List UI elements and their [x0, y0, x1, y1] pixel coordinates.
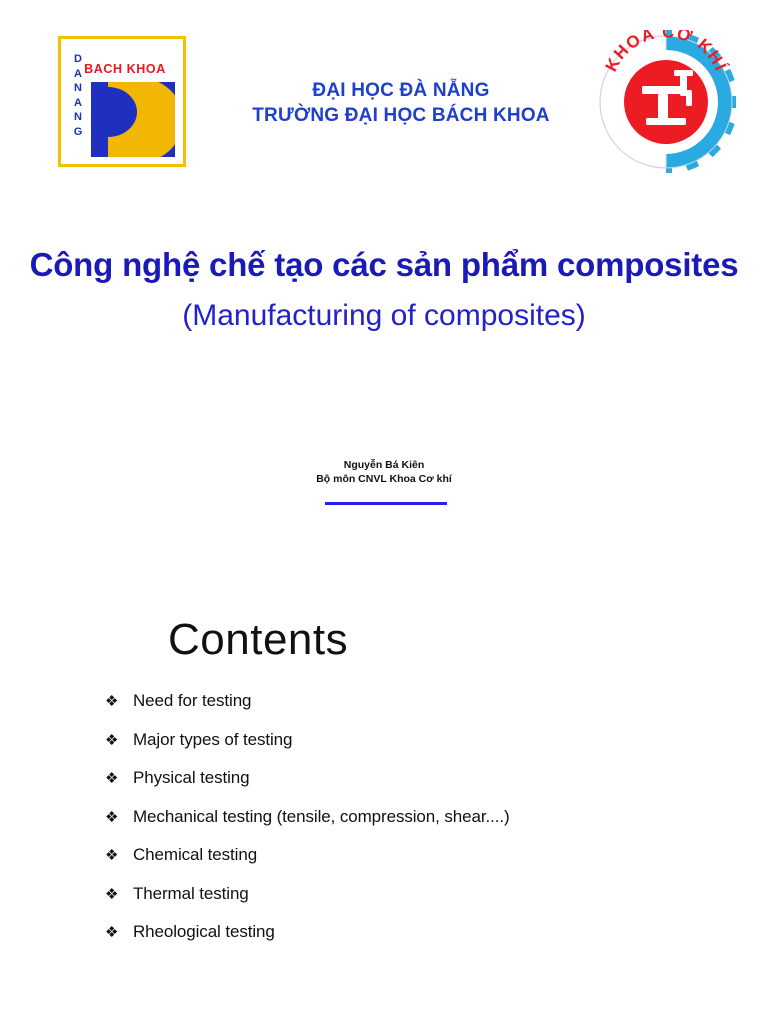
university-name-line2: TRƯỜNG ĐẠI HỌC BÁCH KHOA [214, 103, 588, 128]
logo-danang-vertical-text: D A N A N G [71, 52, 85, 139]
university-name-line1: ĐẠI HỌC ĐÀ NẴNG [312, 80, 489, 101]
logo-bach-khoa-text: BACH KHOA [69, 63, 181, 76]
logo-danang-letter: D [71, 52, 85, 67]
list-item-label: Major types of testing [133, 731, 292, 748]
logo-monogram-icon [91, 82, 175, 157]
diamond-bullet-icon: ❖ [105, 694, 133, 709]
logo-danang-letter: G [71, 125, 85, 140]
list-item-label: Chemical testing [133, 846, 257, 863]
khoa-co-khi-logo: KHOA CƠ KHÍ [596, 30, 736, 173]
author-divider [325, 502, 447, 505]
diamond-bullet-icon: ❖ [105, 848, 133, 863]
list-item: ❖ Mechanical testing (tensile, compressi… [105, 808, 705, 847]
list-item-label: Need for testing [133, 692, 251, 709]
slide-main-title: Công nghệ chế tạo các sản phẩm composite… [14, 244, 754, 286]
slide-header: BACH KHOA D A N A N G ĐẠI HỌC ĐÀ NẴNG [0, 0, 768, 200]
logo-danang-letter: A [71, 96, 85, 111]
slide-sub-title: (Manufacturing of composites) [14, 296, 754, 336]
logo-danang-letter: N [71, 110, 85, 125]
list-item: ❖ Need for testing [105, 692, 705, 731]
list-item: ❖ Thermal testing [105, 885, 705, 924]
contents-list: ❖ Need for testing ❖ Major types of test… [105, 692, 705, 962]
university-heading: ĐẠI HỌC ĐÀ NẴNG TRƯỜNG ĐẠI HỌC BÁCH KHOA [214, 78, 588, 128]
logo-monogram-stem [91, 82, 108, 157]
diamond-bullet-icon: ❖ [105, 887, 133, 902]
list-item-label: Mechanical testing (tensile, compression… [133, 808, 510, 825]
diamond-bullet-icon: ❖ [105, 771, 133, 786]
list-item: ❖ Physical testing [105, 769, 705, 808]
logo-left-inner: BACH KHOA D A N A N G [61, 39, 183, 164]
list-item: ❖ Chemical testing [105, 846, 705, 885]
author-department: Bộ môn CNVL Khoa Cơ khí [234, 472, 534, 486]
contents-heading: Contents [168, 612, 348, 668]
logo-danang-letter: A [71, 67, 85, 82]
presentation-slide: BACH KHOA D A N A N G ĐẠI HỌC ĐÀ NẴNG [0, 0, 768, 1024]
diamond-bullet-icon: ❖ [105, 925, 133, 940]
list-item-label: Rheological testing [133, 923, 275, 940]
author-name: Nguyễn Bá Kiên [234, 458, 534, 472]
diamond-bullet-icon: ❖ [105, 810, 133, 825]
dut-bach-khoa-danang-logo: BACH KHOA D A N A N G [58, 36, 186, 167]
list-item: ❖ Major types of testing [105, 731, 705, 770]
diamond-bullet-icon: ❖ [105, 733, 133, 748]
khoa-co-khi-svg-icon: KHOA CƠ KHÍ [596, 30, 736, 173]
list-item-label: Physical testing [133, 769, 250, 786]
logo-danang-letter: N [71, 81, 85, 96]
list-item-label: Thermal testing [133, 885, 249, 902]
list-item: ❖ Rheological testing [105, 923, 705, 962]
author-block: Nguyễn Bá Kiên Bộ môn CNVL Khoa Cơ khí [234, 458, 534, 486]
